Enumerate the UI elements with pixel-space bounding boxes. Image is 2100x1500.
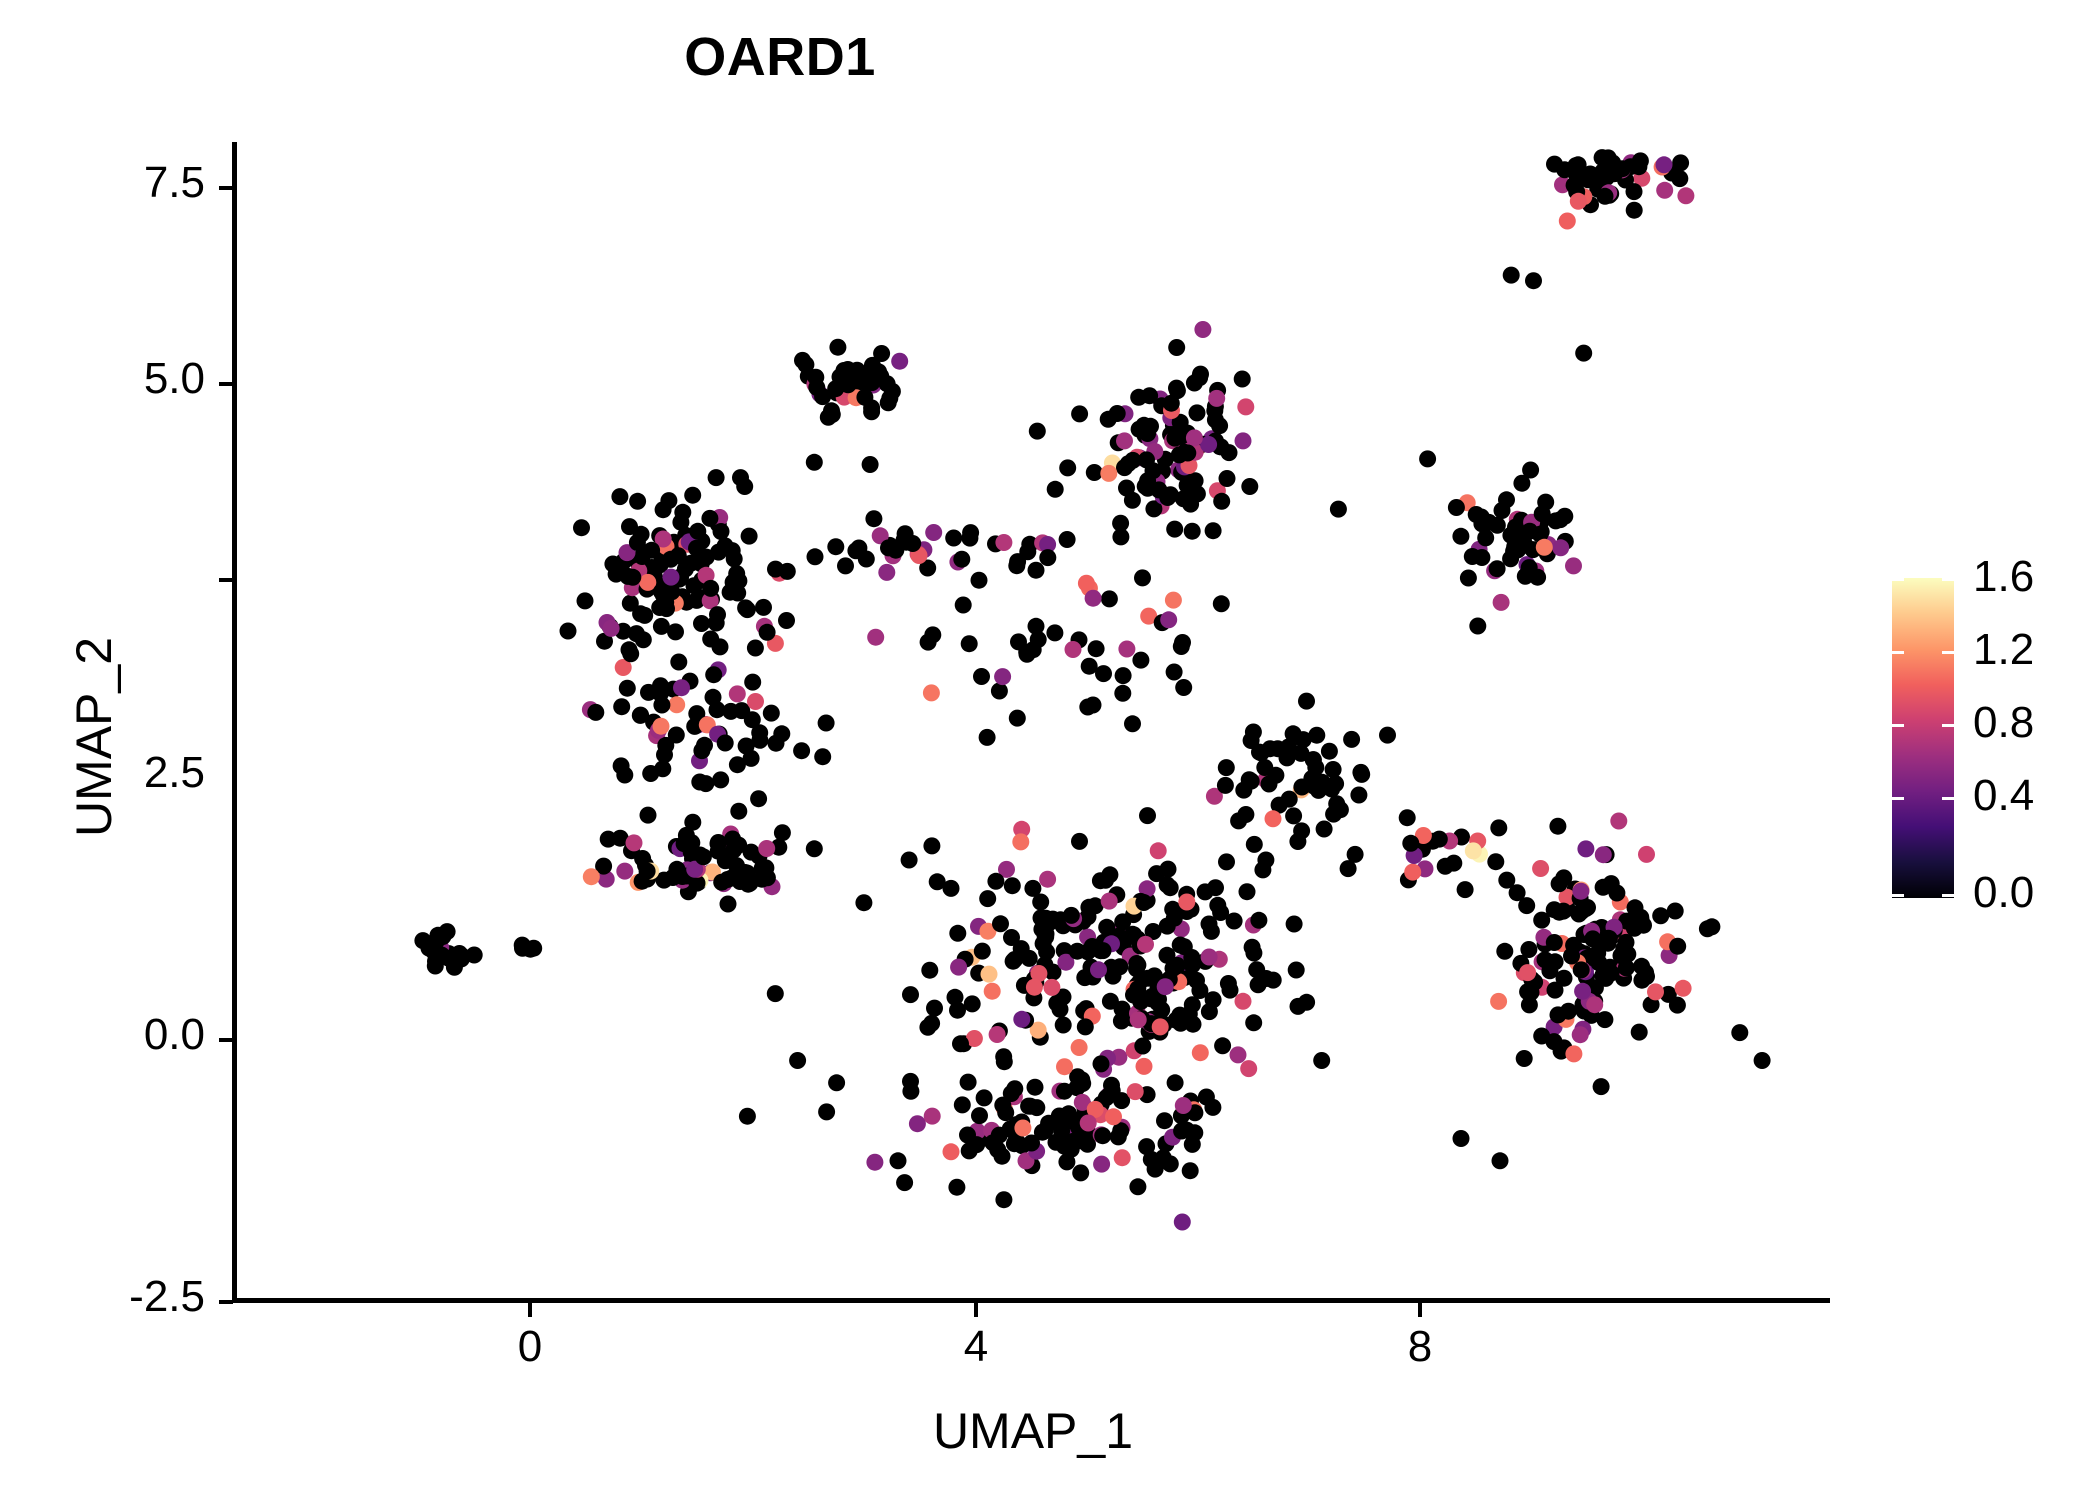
- scatter-point: [663, 569, 680, 586]
- scatter-point: [1184, 523, 1201, 540]
- scatter-point: [1570, 906, 1587, 923]
- scatter-point: [1519, 964, 1536, 981]
- scatter-point: [1105, 1108, 1122, 1125]
- scatter-point: [1163, 395, 1180, 412]
- scatter-point: [626, 834, 643, 851]
- scatter-point: [1574, 983, 1591, 1000]
- scatter-point: [994, 668, 1011, 685]
- scatter-point: [573, 519, 590, 536]
- scatter-point: [793, 742, 810, 759]
- scatter-point: [653, 583, 670, 600]
- scatter-point: [1246, 836, 1263, 853]
- scatter-point: [1136, 1058, 1153, 1075]
- scatter-point: [741, 875, 758, 892]
- scatter-point: [616, 863, 633, 880]
- scatter-point: [1039, 871, 1056, 888]
- scatter-point: [1175, 679, 1192, 696]
- scatter-point: [1029, 423, 1046, 440]
- scatter-point: [1191, 369, 1208, 386]
- scatter-point: [1176, 938, 1193, 955]
- scatter-point: [1630, 158, 1647, 175]
- scatter-point: [961, 1142, 978, 1159]
- scatter-point: [1464, 548, 1481, 565]
- scatter-point: [696, 737, 713, 754]
- scatter-point: [621, 641, 638, 658]
- scatter-point: [959, 1127, 976, 1144]
- scatter-point: [1130, 1011, 1147, 1028]
- scatter-point: [583, 868, 600, 885]
- scatter-point: [739, 1108, 756, 1125]
- feature-plot-figure: OARD1 7.5 5.0 2.5 0.0 -2.5 0 4 8 UMAP_1 …: [0, 0, 2100, 1500]
- scatter-point: [1220, 975, 1237, 992]
- scatter-point: [947, 989, 964, 1006]
- scatter-point: [901, 852, 918, 869]
- scatter-point: [758, 840, 775, 857]
- scatter-point: [1572, 1026, 1589, 1043]
- scatter-point: [863, 403, 880, 420]
- scatter-point: [1184, 957, 1201, 974]
- scatter-point: [921, 962, 938, 979]
- scatter-point: [1152, 1018, 1169, 1035]
- scatter-point: [1257, 852, 1274, 869]
- scatter-point: [1575, 345, 1592, 362]
- scatter-point: [560, 623, 577, 640]
- scatter-point: [1182, 496, 1199, 513]
- scatter-point: [1230, 812, 1247, 829]
- scatter-point: [976, 1089, 993, 1106]
- scatter-point: [1160, 611, 1177, 628]
- scatter-point: [979, 890, 996, 907]
- scatter-point: [1165, 592, 1182, 609]
- scatter-point: [952, 1035, 969, 1052]
- scatter-point: [684, 487, 701, 504]
- scatter-point: [1533, 1028, 1550, 1045]
- scatter-point: [619, 568, 636, 585]
- legend-tick-left-1.6: [1892, 578, 1904, 581]
- scatter-point: [639, 863, 656, 880]
- scatter-point: [635, 631, 652, 648]
- scatter-point: [1325, 761, 1342, 778]
- scatter-point: [1114, 685, 1131, 702]
- scatter-point: [1245, 724, 1262, 741]
- scatter-point: [1214, 1037, 1231, 1054]
- scatter-point: [603, 620, 620, 637]
- scatter-point: [1112, 528, 1129, 545]
- scatter-point: [1350, 787, 1367, 804]
- scatter-point: [891, 353, 908, 370]
- x-axis-line: [233, 1298, 1830, 1303]
- scatter-point: [1537, 951, 1554, 968]
- scatter-point: [1289, 833, 1306, 850]
- scatter-point: [1175, 1097, 1192, 1114]
- scatter-point: [654, 760, 671, 777]
- scatter-point: [658, 600, 675, 617]
- scatter-point: [995, 1191, 1012, 1208]
- scatter-point: [1244, 939, 1261, 956]
- scatter-point: [1613, 947, 1630, 964]
- scatter-point: [657, 737, 674, 754]
- scatter-point: [850, 540, 867, 557]
- scatter-point: [1731, 1024, 1748, 1041]
- scatter-point: [1118, 641, 1135, 658]
- scatter-point: [1129, 1178, 1146, 1195]
- scatter-point: [1399, 809, 1416, 826]
- scatter-point: [1189, 404, 1206, 421]
- scatter-point: [1402, 835, 1419, 852]
- scatter-point: [807, 548, 824, 565]
- legend-tick-right-0.8: [1942, 724, 1954, 727]
- scatter-point: [1265, 810, 1282, 827]
- scatter-point: [1168, 339, 1185, 356]
- scatter-point: [953, 551, 970, 568]
- scatter-point: [864, 363, 881, 380]
- scatter-point: [1550, 1006, 1567, 1023]
- scatter-point: [629, 493, 646, 510]
- scatter-point: [668, 696, 685, 713]
- scatter-point: [1043, 979, 1060, 996]
- scatter-point: [1546, 934, 1563, 951]
- scatter-point: [1003, 929, 1020, 946]
- scatter-point: [779, 563, 796, 580]
- scatter-point: [1633, 958, 1650, 975]
- scatter-point: [1109, 405, 1126, 422]
- scatter-point: [1404, 864, 1421, 881]
- scatter-point: [1013, 1011, 1030, 1028]
- scatter-point: [1071, 833, 1088, 850]
- scatter-point: [964, 995, 981, 1012]
- scatter-point: [856, 389, 873, 406]
- scatter-point: [1754, 1052, 1771, 1069]
- scatter-point: [954, 1096, 971, 1113]
- scatter-point: [1565, 1045, 1582, 1062]
- scatter-point: [1135, 894, 1152, 911]
- scatter-point: [961, 530, 978, 547]
- scatter-point: [695, 848, 712, 865]
- scatter-point: [1577, 840, 1594, 857]
- x-tick-label-2: 8: [1360, 1322, 1480, 1372]
- scatter-point: [950, 959, 967, 976]
- y-tick-mark--2.5: [219, 1300, 233, 1304]
- scatter-point: [723, 870, 740, 887]
- scatter-point: [1492, 1152, 1509, 1169]
- scatter-point: [789, 1052, 806, 1069]
- scatter-point: [866, 1154, 883, 1171]
- scatter-point: [1285, 807, 1302, 824]
- scatter-point: [1167, 1074, 1184, 1091]
- scatter-point: [1490, 993, 1507, 1010]
- scatter-point: [688, 540, 705, 557]
- scatter-point: [1040, 1115, 1057, 1132]
- scatter-point: [653, 718, 670, 735]
- scatter-point: [902, 986, 919, 1003]
- scatter-point: [747, 640, 764, 657]
- scatter-point: [747, 693, 764, 710]
- scatter-point: [1652, 907, 1669, 924]
- scatter-point: [1124, 715, 1141, 732]
- scatter-point: [1237, 398, 1254, 415]
- scatter-point: [1316, 821, 1333, 838]
- scatter-point: [1631, 1024, 1648, 1041]
- scatter-point: [1153, 1001, 1170, 1018]
- scatter-point: [1166, 521, 1183, 538]
- scatter-point: [1343, 731, 1360, 748]
- scatter-point: [960, 1074, 977, 1091]
- scatter-point: [1489, 560, 1506, 577]
- scatter-point: [1124, 452, 1141, 469]
- scatter-point: [1138, 1138, 1155, 1155]
- scatter-point: [880, 539, 897, 556]
- scatter-point: [1498, 872, 1515, 889]
- scatter-point: [1088, 640, 1105, 657]
- scatter-point: [1134, 569, 1151, 586]
- scatter-point: [729, 685, 746, 702]
- scatter-point: [629, 534, 646, 551]
- scatter-point: [926, 1000, 943, 1017]
- scatter-point: [973, 668, 990, 685]
- scatter-point: [1178, 894, 1195, 911]
- scatter-point: [1056, 1083, 1073, 1100]
- scatter-point: [1012, 833, 1029, 850]
- scatter-point: [1188, 972, 1205, 989]
- scatter-point: [720, 896, 737, 913]
- legend-tick-right-1.2: [1942, 651, 1954, 654]
- scatter-point: [640, 684, 657, 701]
- scatter-point: [839, 361, 856, 378]
- scatter-point: [1159, 489, 1176, 506]
- scatter-point: [1251, 744, 1268, 761]
- scatter-point: [1496, 943, 1513, 960]
- scatter-point: [622, 595, 639, 612]
- scatter-point: [1286, 916, 1303, 933]
- scatter-point: [989, 1026, 1006, 1043]
- scatter-point: [1347, 846, 1364, 863]
- scatter-point: [862, 456, 879, 473]
- scatter-point: [1465, 842, 1482, 859]
- scatter-point: [984, 983, 1001, 1000]
- scatter-point: [1448, 499, 1465, 516]
- scatter-point: [1549, 818, 1566, 835]
- scatter-point: [995, 1048, 1012, 1065]
- scatter-point: [948, 1179, 965, 1196]
- scatter-point: [1533, 912, 1550, 929]
- scatter-point: [1098, 919, 1115, 936]
- scatter-point: [1157, 978, 1174, 995]
- scatter-point: [1077, 1018, 1094, 1035]
- scatter-point: [1431, 831, 1448, 848]
- scatter-point: [1529, 569, 1546, 586]
- scatter-point: [1086, 464, 1103, 481]
- scatter-point: [1325, 806, 1342, 823]
- x-tick-label-1: 4: [916, 1322, 1036, 1372]
- scatter-point: [904, 535, 921, 552]
- scatter-point: [1207, 879, 1224, 896]
- scatter-point: [1071, 1039, 1088, 1056]
- scatter-point: [1173, 638, 1190, 655]
- scatter-point: [1563, 948, 1580, 965]
- scatter-point: [1626, 202, 1643, 219]
- scatter-point: [1219, 470, 1236, 487]
- scatter-point: [1330, 501, 1347, 518]
- scatter-point: [955, 597, 972, 614]
- scatter-point: [1023, 1135, 1040, 1152]
- scatter-point: [1046, 624, 1063, 641]
- scatter-point: [1597, 188, 1614, 205]
- scatter-point: [985, 1134, 1002, 1151]
- scatter-point: [619, 680, 636, 697]
- scatter-point: [674, 504, 691, 521]
- scatter-point: [1595, 879, 1612, 896]
- scatter-point: [1498, 491, 1515, 508]
- scatter-point: [1490, 819, 1507, 836]
- scatter-point: [655, 501, 672, 518]
- color-legend: 1.6 1.2 0.8 0.4 0.0: [1885, 560, 2095, 940]
- scatter-point: [1600, 930, 1617, 947]
- scatter-point: [1069, 943, 1086, 960]
- scatter-point: [992, 915, 1009, 932]
- scatter-point: [1059, 459, 1076, 476]
- scatter-point: [662, 551, 679, 568]
- scatter-point: [1134, 1038, 1151, 1055]
- scatter-point: [1132, 652, 1149, 669]
- scatter-point: [1124, 492, 1141, 509]
- scatter-point: [1487, 853, 1504, 870]
- scatter-point: [1352, 764, 1369, 781]
- scatter-point: [924, 1108, 941, 1125]
- scatter-point: [884, 383, 901, 400]
- scatter-point: [768, 735, 785, 752]
- scatter-point: [725, 574, 742, 591]
- legend-label-4: 0.0: [1973, 868, 2034, 918]
- scatter-point: [1532, 860, 1549, 877]
- scatter-point: [1230, 1046, 1247, 1063]
- scatter-point: [1100, 465, 1117, 482]
- scatter-point: [702, 580, 719, 597]
- scatter-point: [1028, 618, 1045, 635]
- scatter-point: [1218, 853, 1235, 870]
- legend-tick-left-0.4: [1892, 797, 1904, 800]
- scatter-point: [971, 1107, 988, 1124]
- scatter-point: [1159, 918, 1176, 935]
- scatter-point: [667, 623, 684, 640]
- scatter-point: [1006, 1135, 1023, 1152]
- legend-label-0: 1.6: [1973, 552, 2034, 602]
- scatter-point: [1186, 429, 1203, 446]
- scatter-point: [1675, 980, 1692, 997]
- legend-tick-right-1.6: [1942, 578, 1954, 581]
- scatter-point: [1522, 462, 1539, 479]
- scatter-point: [1130, 389, 1147, 406]
- scatter-point: [1094, 1127, 1111, 1144]
- scatter-point: [840, 376, 857, 393]
- scatter-point: [1520, 941, 1537, 958]
- scatter-point: [1205, 522, 1222, 539]
- y-axis-title: UMAP_2: [65, 437, 123, 1037]
- scatter-point: [1055, 1017, 1072, 1034]
- scatter-point: [1469, 618, 1486, 635]
- scatter-point: [683, 834, 700, 851]
- scatter-point: [755, 599, 772, 616]
- scatter-point: [1305, 751, 1322, 768]
- scatter-point: [439, 923, 456, 940]
- scatter-point: [713, 523, 730, 540]
- scatter-point: [705, 666, 722, 683]
- scatter-point: [421, 940, 438, 957]
- scatter-point: [909, 1115, 926, 1132]
- scatter-point: [1445, 855, 1462, 872]
- scatter-point: [1065, 641, 1082, 658]
- scatter-point: [1147, 1161, 1164, 1178]
- scatter-point: [1671, 170, 1688, 187]
- scatter-point: [616, 767, 633, 784]
- scatter-point: [1150, 842, 1167, 859]
- scatter-point: [867, 629, 884, 646]
- scatter-point: [1203, 923, 1220, 940]
- scatter-point: [1008, 557, 1025, 574]
- scatter-point: [1038, 943, 1055, 960]
- scatter-point: [1552, 539, 1569, 556]
- scatter-point: [1014, 1120, 1031, 1137]
- scatter-point: [763, 705, 780, 722]
- scatter-point: [1703, 918, 1720, 935]
- scatter-point: [1162, 1155, 1179, 1172]
- scatter-point: [702, 631, 719, 648]
- scatter-point: [1006, 1080, 1023, 1097]
- scatter-point: [664, 869, 681, 886]
- scatter-point: [1127, 1083, 1144, 1100]
- scatter-point: [943, 880, 960, 897]
- scatter-point: [820, 409, 837, 426]
- scatter-point: [961, 635, 978, 652]
- scatter-point: [991, 683, 1008, 700]
- scatter-point: [979, 729, 996, 746]
- scatter-point: [1243, 773, 1260, 790]
- scatter-points: [414, 149, 1770, 1230]
- scatter-point: [1248, 961, 1265, 978]
- scatter-point: [1551, 875, 1568, 892]
- scatter-point: [1184, 996, 1201, 1013]
- scatter-point: [1667, 903, 1684, 920]
- scatter-point: [1111, 958, 1128, 975]
- scatter-point: [724, 542, 741, 559]
- scatter-point: [1573, 961, 1590, 978]
- scatter-point: [653, 697, 670, 714]
- scatter-point: [1213, 595, 1230, 612]
- scatter-point: [744, 674, 761, 691]
- scatter-point: [1555, 903, 1572, 920]
- scatter-point: [1037, 927, 1054, 944]
- scatter-point: [923, 684, 940, 701]
- scatter-point: [1156, 1112, 1173, 1129]
- scatter-point: [709, 606, 726, 623]
- scatter-point: [1021, 950, 1038, 967]
- legend-tick-left-1.2: [1892, 651, 1904, 654]
- scatter-point: [1028, 562, 1045, 579]
- scatter-point: [1198, 1089, 1215, 1106]
- scatter-point: [949, 925, 966, 942]
- scatter-point: [1139, 807, 1156, 824]
- scatter-point: [1093, 1055, 1110, 1072]
- scatter-point: [923, 837, 940, 854]
- scatter-point: [1026, 979, 1043, 996]
- scatter-point: [1288, 962, 1305, 979]
- scatter-point: [827, 538, 844, 555]
- scatter-point: [1503, 267, 1520, 284]
- scatter-point: [1453, 1130, 1470, 1147]
- scatter-point: [722, 703, 739, 720]
- scatter-point: [814, 748, 831, 765]
- scatter-point: [670, 654, 687, 671]
- x-tick-mark-4: [974, 1303, 978, 1317]
